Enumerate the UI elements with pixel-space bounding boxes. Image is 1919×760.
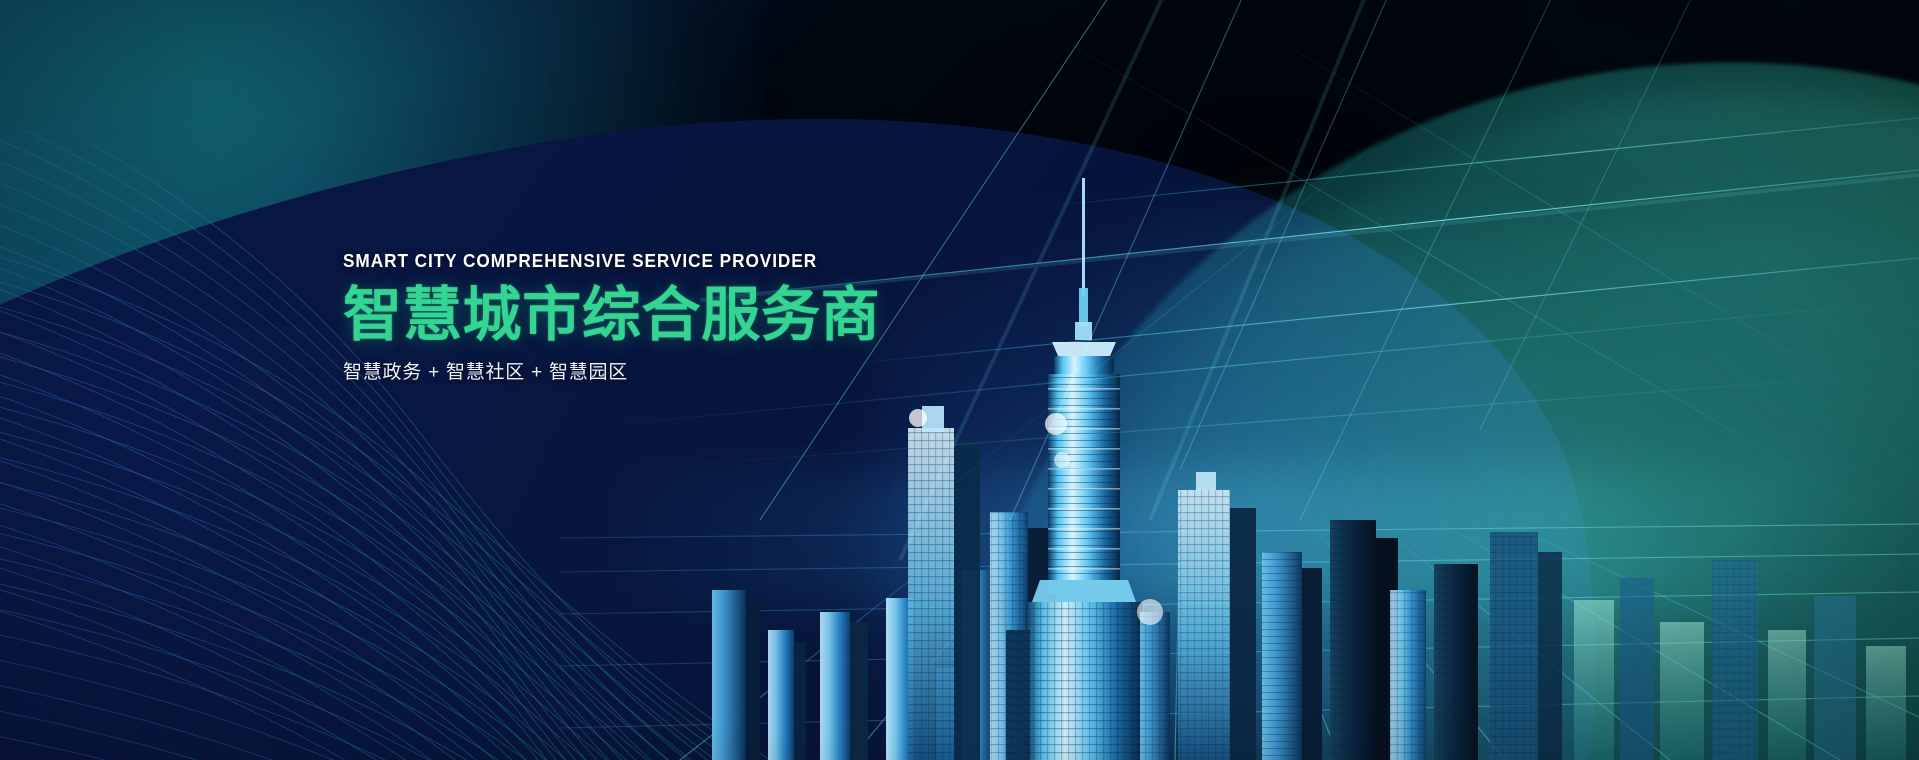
smart-city-banner: SMART CITY COMPREHENSIVE SERVICE PROVIDE… bbox=[0, 0, 1919, 760]
eyebrow-tagline: SMART CITY COMPREHENSIVE SERVICE PROVIDE… bbox=[343, 252, 1050, 271]
hero-copy: SMART CITY COMPREHENSIVE SERVICE PROVIDE… bbox=[343, 252, 1103, 386]
page-title: 智慧城市综合服务商 bbox=[343, 284, 1103, 347]
subtitle-services: 智慧政务 + 智慧社区 + 智慧园区 bbox=[343, 361, 1103, 386]
